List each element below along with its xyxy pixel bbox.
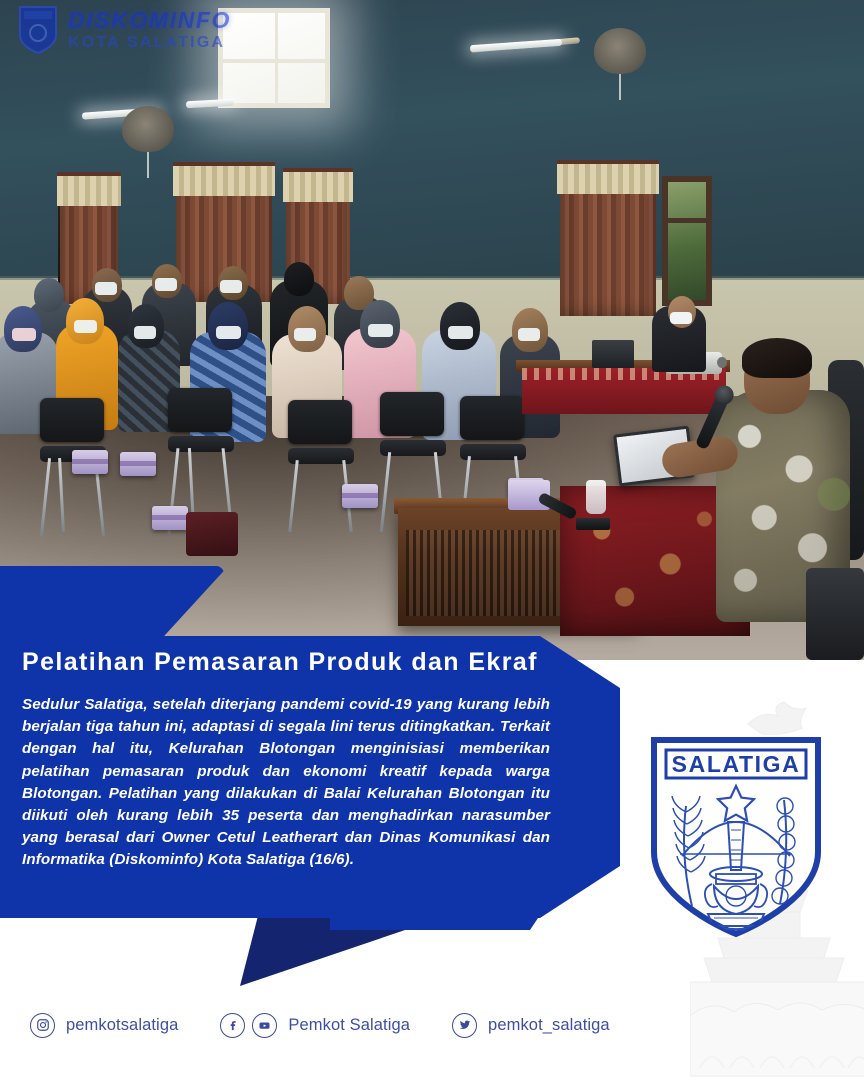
event-photo <box>0 0 864 660</box>
floor-box <box>72 450 108 474</box>
watermark-line1: DISKOMINFO <box>68 9 231 32</box>
floor-box <box>152 506 188 530</box>
floor-box <box>342 484 378 508</box>
face-mask <box>220 280 242 293</box>
window-greenery <box>662 176 712 306</box>
participant-head <box>34 278 64 312</box>
face-mask <box>12 328 36 341</box>
curtain <box>560 164 656 316</box>
emblem-banner-text: SALATIGA <box>672 751 801 777</box>
page-title: Pelatihan Pemasaran Produk dan Ekraf <box>22 648 582 677</box>
diskominfo-watermark: DISKOMINFO KOTA SALATIGA <box>18 4 248 56</box>
twitter-icon[interactable] <box>452 1013 477 1038</box>
facebook-youtube-handle: Pemkot Salatiga <box>288 1016 410 1035</box>
instagram-icon[interactable] <box>30 1013 55 1038</box>
laptop-back <box>592 340 634 368</box>
watermark-line2: KOTA SALATIGA <box>68 35 231 51</box>
salatiga-coat-of-arms: SALATIGA <box>646 734 826 940</box>
twitter-handle: pemkot_salatiga <box>488 1016 610 1035</box>
face-mask <box>518 328 540 341</box>
face-mask <box>216 326 241 339</box>
face-mask <box>74 320 97 333</box>
salatiga-shield-icon <box>18 5 58 55</box>
face-mask <box>368 324 393 337</box>
instagram-handle: pemkotsalatiga <box>66 1016 178 1035</box>
social-account-instagram[interactable]: pemkotsalatiga <box>30 1013 178 1038</box>
social-account-facebook-youtube[interactable]: Pemkot Salatiga <box>220 1013 410 1038</box>
handbag <box>186 512 238 556</box>
wall-fan-icon <box>122 106 174 152</box>
participant-head <box>284 262 314 296</box>
caption-body: Sedulur Salatiga, setelah diterjang pand… <box>22 694 550 872</box>
mobile-phone <box>576 518 610 530</box>
poster-canvas: DISKOMINFO KOTA SALATIGA Pelatihan Pemas… <box>0 0 864 1080</box>
floor-box <box>120 452 156 476</box>
back-table-cloth <box>522 368 726 414</box>
water-bottle <box>586 480 606 514</box>
face-mask <box>670 312 692 324</box>
youtube-icon[interactable] <box>252 1013 277 1038</box>
wall-fan-icon <box>594 28 646 74</box>
folding-chair <box>806 568 864 660</box>
face-mask <box>95 282 117 295</box>
face-mask <box>294 328 316 341</box>
presenter-hair <box>742 338 812 378</box>
facebook-icon[interactable] <box>220 1013 245 1038</box>
face-mask <box>448 326 473 339</box>
face-mask <box>134 326 156 339</box>
face-mask <box>155 278 177 291</box>
social-footer: pemkotsalatiga Pemkot Salatiga <box>30 1008 830 1042</box>
social-account-twitter[interactable]: pemkot_salatiga <box>452 1013 610 1038</box>
